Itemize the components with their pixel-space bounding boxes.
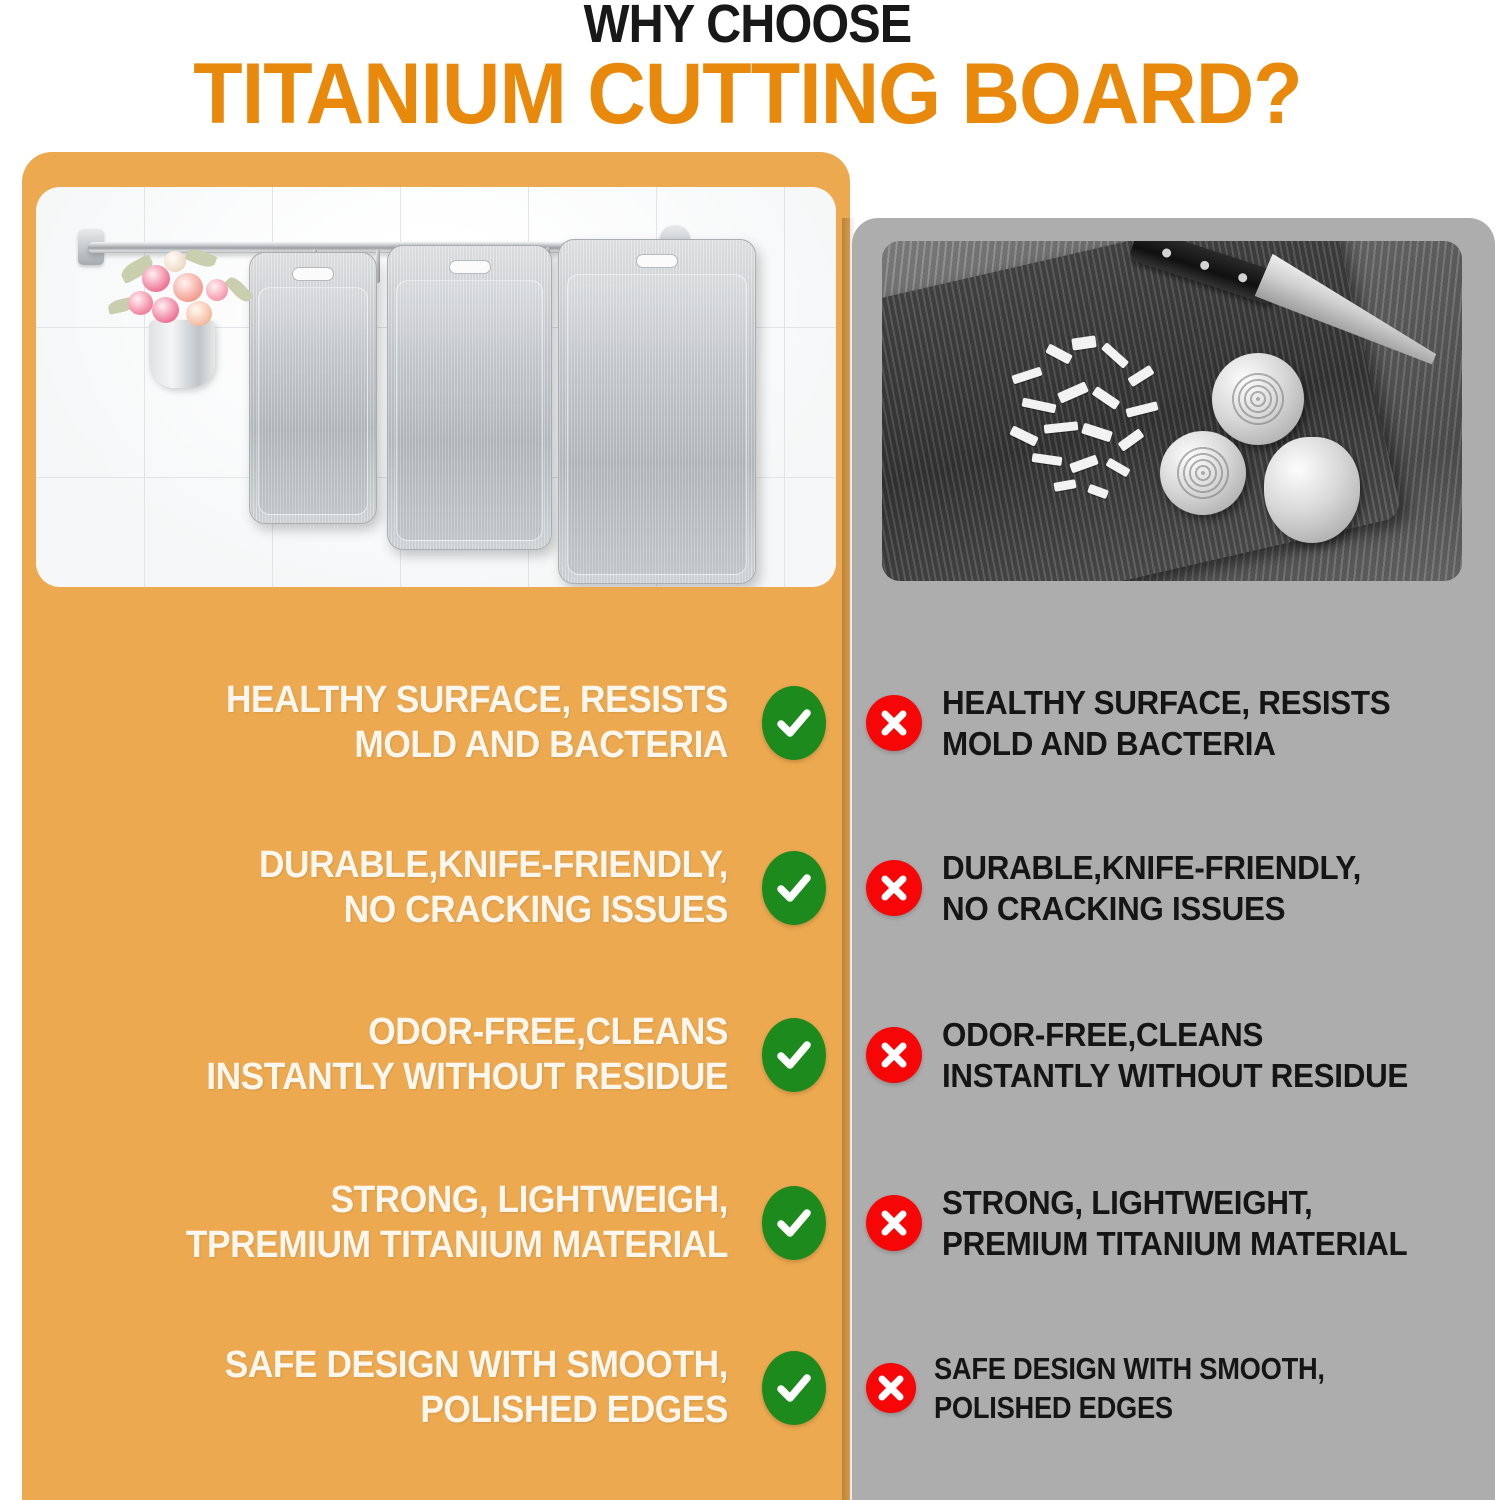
whole-onion <box>1264 437 1360 543</box>
titanium-board-medium <box>387 245 552 550</box>
titanium-cutting-boards-photo <box>36 187 836 587</box>
titanium-board-small <box>249 252 377 524</box>
check-icon <box>762 1186 826 1260</box>
rose <box>173 273 203 302</box>
x-icon <box>866 860 922 916</box>
feature-text-bad: ODOR-FREE,CLEANS INSTANTLY WITHOUT RESID… <box>942 1014 1408 1096</box>
check-icon <box>762 1351 826 1425</box>
feature-text-bad: DURABLE,KNIFE-FRIENDLY, NO CRACKING ISSU… <box>942 847 1361 929</box>
x-icon <box>866 1027 922 1083</box>
page-title-line2: TITANIUM CUTTING BOARD? <box>45 52 1450 136</box>
rose <box>152 297 179 323</box>
board-handle-slot <box>636 254 678 268</box>
wooden-board-onions-photo <box>882 241 1462 581</box>
onion-half <box>1212 353 1304 445</box>
rose <box>128 291 153 315</box>
feature-row-good: DURABLE,KNIFE-FRIENDLY, NO CRACKING ISSU… <box>36 833 826 943</box>
feature-text-bad: STRONG, LIGHTWEIGHT, PREMIUM TITANIUM MA… <box>942 1182 1407 1264</box>
rose <box>164 251 186 272</box>
check-icon <box>762 1018 826 1092</box>
flower-vase <box>149 320 215 388</box>
feature-text-bad: HEALTHY SURFACE, RESISTS MOLD AND BACTER… <box>942 682 1390 764</box>
page-title-line1: WHY CHOOSE <box>75 0 1421 50</box>
board-handle-slot <box>292 267 334 281</box>
feature-row-bad: DURABLE,KNIFE-FRIENDLY, NO CRACKING ISSU… <box>866 833 1486 943</box>
feature-row-bad: SAFE DESIGN WITH SMOOTH, POLISHED EDGES <box>866 1333 1486 1443</box>
rose <box>186 301 212 326</box>
feature-row-good: HEALTHY SURFACE, RESISTS MOLD AND BACTER… <box>36 668 826 778</box>
rose <box>206 279 228 301</box>
feature-text-bad: SAFE DESIGN WITH SMOOTH, POLISHED EDGES <box>934 1349 1325 1427</box>
feature-text-good: HEALTHY SURFACE, RESISTS MOLD AND BACTER… <box>84 678 728 768</box>
x-icon <box>866 1195 922 1251</box>
feature-row-bad: HEALTHY SURFACE, RESISTS MOLD AND BACTER… <box>866 668 1486 778</box>
feature-text-good: SAFE DESIGN WITH SMOOTH, POLISHED EDGES <box>84 1343 728 1433</box>
feature-text-good: DURABLE,KNIFE-FRIENDLY, NO CRACKING ISSU… <box>84 843 728 933</box>
check-icon <box>762 686 826 760</box>
feature-text-good: STRONG, LIGHTWEIGH, TPREMIUM TITANIUM MA… <box>84 1178 728 1268</box>
onion-half <box>1160 431 1246 515</box>
board-handle-slot <box>449 260 491 274</box>
rose <box>142 265 170 292</box>
feature-row-bad: STRONG, LIGHTWEIGHT, PREMIUM TITANIUM MA… <box>866 1168 1486 1278</box>
x-icon <box>866 695 922 751</box>
feature-row-good: STRONG, LIGHTWEIGH, TPREMIUM TITANIUM MA… <box>36 1168 826 1278</box>
feature-row-bad: ODOR-FREE,CLEANS INSTANTLY WITHOUT RESID… <box>866 1000 1486 1110</box>
titanium-board-large <box>558 239 756 584</box>
header: WHY CHOOSE TITANIUM CUTTING BOARD? <box>0 0 1495 152</box>
x-icon <box>866 1363 916 1413</box>
feature-text-good: ODOR-FREE,CLEANS INSTANTLY WITHOUT RESID… <box>84 1010 728 1100</box>
feature-row-good: ODOR-FREE,CLEANS INSTANTLY WITHOUT RESID… <box>36 1000 826 1110</box>
feature-row-good: SAFE DESIGN WITH SMOOTH, POLISHED EDGES <box>36 1333 826 1443</box>
check-icon <box>762 851 826 925</box>
